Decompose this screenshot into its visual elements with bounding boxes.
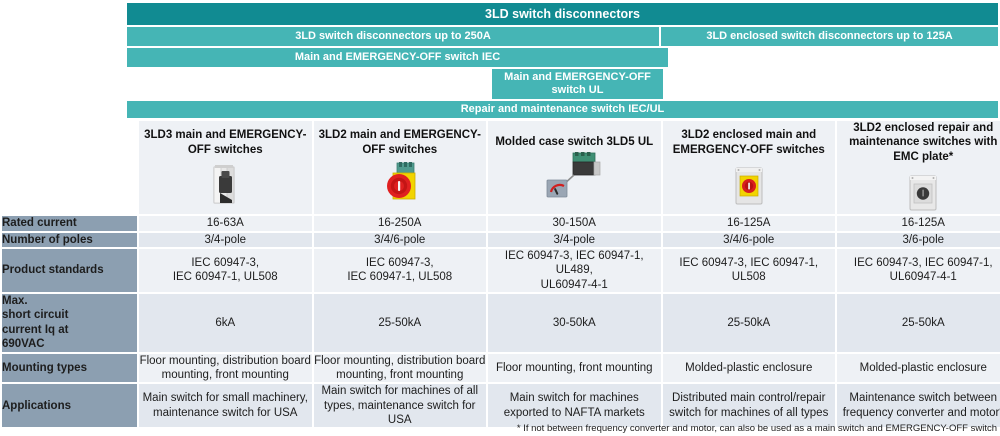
footnote-text: * If not between frequency converter and…: [517, 423, 997, 434]
table-header-row: 3LD3 main and EMERGENCY-OFF switches: [2, 121, 1000, 214]
cell-applications-1: Main switch for small machinery, mainten…: [139, 384, 312, 427]
cell-short-circuit-2: 25-50kA: [314, 294, 487, 352]
table-row-mounting-types: Mounting types Floor mounting, distribut…: [2, 354, 1000, 383]
cell-short-circuit-5: 25-50kA: [837, 294, 1000, 352]
cell-rated-current-1: 16-63A: [139, 216, 312, 230]
cell-mounting-1: Floor mounting, distribution board mount…: [139, 354, 312, 383]
table-row-number-of-poles: Number of poles 3/4-pole 3/4/6-pole 3/4-…: [2, 233, 1000, 247]
red-yellow-emergency-switch-icon: [314, 161, 487, 207]
cell-rated-current-3: 30-150A: [488, 216, 661, 230]
cell-poles-4: 3/4/6-pole: [663, 233, 836, 247]
cell-short-circuit-1: 6kA: [139, 294, 312, 352]
cell-mounting-4: Molded-plastic enclosure: [663, 354, 836, 383]
cell-mounting-5: Molded-plastic enclosure: [837, 354, 1000, 383]
cell-poles-1: 3/4-pole: [139, 233, 312, 247]
cell-applications-2: Main switch for machines of all types, m…: [314, 384, 487, 427]
row-label-short-circuit-current: Max.short circuitcurrent Iq at690VAC: [2, 294, 137, 352]
enclosed-black-switch-icon: [837, 168, 1000, 214]
row-label-rated-current: Rated current: [2, 216, 137, 230]
cell-short-circuit-3: 30-50kA: [488, 294, 661, 352]
cell-applications-4: Distributed main control/repair switch f…: [663, 384, 836, 427]
cell-applications-3: Main switch for machines exported to NAF…: [488, 384, 661, 427]
cell-poles-5: 3/6-pole: [837, 233, 1000, 247]
row-label-product-standards: Product standards: [2, 249, 137, 292]
cell-standards-2: IEC 60947-3,IEC 60947-1, UL508: [314, 249, 487, 292]
product-column-header-5: 3LD2 enclosed repair and maintenance swi…: [837, 121, 1000, 214]
row-label-mounting-types: Mounting types: [2, 354, 137, 383]
cell-standards-1: IEC 60947-3,IEC 60947-1, UL508: [139, 249, 312, 292]
table-row-short-circuit-current: Max.short circuitcurrent Iq at690VAC 6kA…: [2, 294, 1000, 352]
hierarchy-bar-level2-right: 3LD enclosed switch disconnectors up to …: [661, 27, 998, 46]
molded-case-switch-with-handle-icon: [488, 154, 661, 200]
header-corner-spacer: [2, 121, 137, 214]
product-title-2: 3LD2 main and EMERGENCY-OFF switches: [314, 128, 487, 157]
product-column-header-1: 3LD3 main and EMERGENCY-OFF switches: [139, 121, 312, 214]
cell-mounting-3: Floor mounting, front mounting: [488, 354, 661, 383]
product-hierarchy-bars: 3LD switch disconnectors 3LD switch disc…: [0, 0, 1000, 115]
product-title-5: 3LD2 enclosed repair and maintenance swi…: [837, 121, 1000, 164]
cell-poles-3: 3/4-pole: [488, 233, 661, 247]
comparison-infographic: 3LD switch disconnectors 3LD switch disc…: [0, 0, 1000, 436]
hierarchy-bar-level4: Main and EMERGENCY-OFF switch UL: [492, 69, 663, 99]
cell-rated-current-2: 16-250A: [314, 216, 487, 230]
cell-mounting-2: Floor mounting, distribution board mount…: [314, 354, 487, 383]
table-row-product-standards: Product standards IEC 60947-3,IEC 60947-…: [2, 249, 1000, 292]
product-column-header-3: Molded case switch 3LD5 UL: [488, 121, 661, 214]
hierarchy-bar-level5: Repair and maintenance switch IEC/UL: [127, 101, 998, 118]
row-label-applications: Applications: [2, 384, 137, 427]
cell-applications-5: Maintenance switch between frequency con…: [837, 384, 1000, 427]
cell-poles-2: 3/4/6-pole: [314, 233, 487, 247]
table-row-applications: Applications Main switch for small machi…: [2, 384, 1000, 427]
product-comparison-table: 3LD3 main and EMERGENCY-OFF switches: [0, 119, 1000, 429]
product-title-3: Molded case switch 3LD5 UL: [488, 135, 661, 149]
hierarchy-bar-level3: Main and EMERGENCY-OFF switch IEC: [127, 48, 668, 67]
product-column-header-2: 3LD2 main and EMERGENCY-OFF switches: [314, 121, 487, 214]
row-label-number-of-poles: Number of poles: [2, 233, 137, 247]
product-title-1: 3LD3 main and EMERGENCY-OFF switches: [139, 128, 312, 157]
cell-standards-3: IEC 60947-3, IEC 60947-1, UL489,UL60947-…: [488, 249, 661, 292]
enclosed-red-yellow-switch-icon: [663, 161, 836, 207]
cell-rated-current-4: 16-125A: [663, 216, 836, 230]
hierarchy-bar-level1: 3LD switch disconnectors: [127, 3, 998, 25]
cell-standards-4: IEC 60947-3, IEC 60947-1,UL508: [663, 249, 836, 292]
table-row-rated-current: Rated current 16-63A 16-250A 30-150A 16-…: [2, 216, 1000, 230]
din-rail-switch-icon: [139, 161, 312, 207]
cell-short-circuit-4: 25-50kA: [663, 294, 836, 352]
product-title-4: 3LD2 enclosed main and EMERGENCY-OFF swi…: [663, 128, 836, 157]
product-column-header-4: 3LD2 enclosed main and EMERGENCY-OFF swi…: [663, 121, 836, 214]
cell-rated-current-5: 16-125A: [837, 216, 1000, 230]
cell-standards-5: IEC 60947-3, IEC 60947-1,UL60947-4-1: [837, 249, 1000, 292]
hierarchy-bar-level2-left: 3LD switch disconnectors up to 250A: [127, 27, 659, 46]
